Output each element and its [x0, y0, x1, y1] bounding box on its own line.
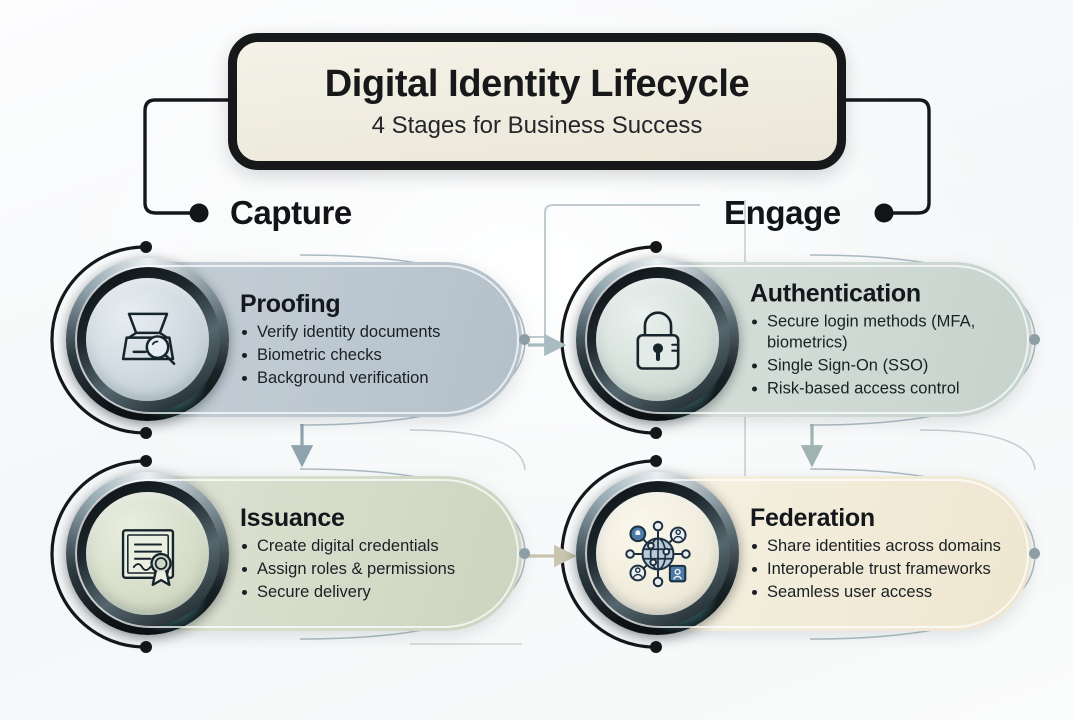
- list-item: Verify identity documents: [240, 322, 492, 343]
- list-item: Secure delivery: [240, 582, 492, 603]
- card-authentication[interactable]: Authentication Secure login methods (MFA…: [582, 262, 1032, 417]
- bullet-list-federation: Share identities across domains Interope…: [750, 536, 1002, 603]
- list-item: Risk-based access control: [750, 378, 1002, 399]
- rim-dot-proofing: [519, 334, 530, 345]
- list-item: Secure login methods (MFA, biometrics): [750, 311, 1002, 353]
- list-item: Interoperable trust frameworks: [750, 559, 1002, 580]
- list-item: Biometric checks: [240, 345, 492, 366]
- medallion-issuance: [66, 472, 229, 635]
- globe-network-identity-icon: [620, 516, 696, 592]
- card-title-issuance: Issuance: [240, 504, 492, 530]
- title-card: Digital Identity Lifecycle 4 Stages for …: [228, 33, 846, 170]
- list-item: Single Sign-On (SSO): [750, 355, 1002, 376]
- bullet-list-proofing: Verify identity documents Biometric chec…: [240, 322, 492, 389]
- bullet-list-authentication: Secure login methods (MFA, biometrics) S…: [750, 311, 1002, 399]
- card-title-federation: Federation: [750, 504, 1002, 530]
- document-scanner-magnifier-icon: [110, 302, 186, 378]
- page-title: Digital Identity Lifecycle: [325, 65, 750, 105]
- medallion-federation: [576, 472, 739, 635]
- medallion-proofing: [66, 258, 229, 421]
- card-federation[interactable]: Federation Share identities across domai…: [582, 476, 1032, 631]
- card-proofing[interactable]: Proofing Verify identity documents Biome…: [72, 262, 522, 417]
- list-item: Share identities across domains: [750, 536, 1002, 557]
- list-item: Assign roles & permissions: [240, 559, 492, 580]
- rim-dot-issuance: [519, 548, 530, 559]
- rim-dot-authentication: [1029, 334, 1040, 345]
- medallion-authentication: [576, 258, 739, 421]
- padlock-icon: [620, 302, 696, 378]
- phase-label-engage: Engage: [724, 196, 841, 229]
- list-item: Seamless user access: [750, 582, 1002, 603]
- rim-dot-federation: [1029, 548, 1040, 559]
- card-issuance[interactable]: Issuance Create digital credentials Assi…: [72, 476, 522, 631]
- list-item: Create digital credentials: [240, 536, 492, 557]
- page-subtitle: 4 Stages for Business Success: [372, 113, 703, 138]
- bullet-list-issuance: Create digital credentials Assign roles …: [240, 536, 492, 603]
- list-item: Background verification: [240, 368, 492, 389]
- card-title-proofing: Proofing: [240, 290, 492, 316]
- card-title-authentication: Authentication: [750, 280, 1002, 306]
- certificate-award-icon: [110, 516, 186, 592]
- phase-label-capture: Capture: [230, 196, 352, 229]
